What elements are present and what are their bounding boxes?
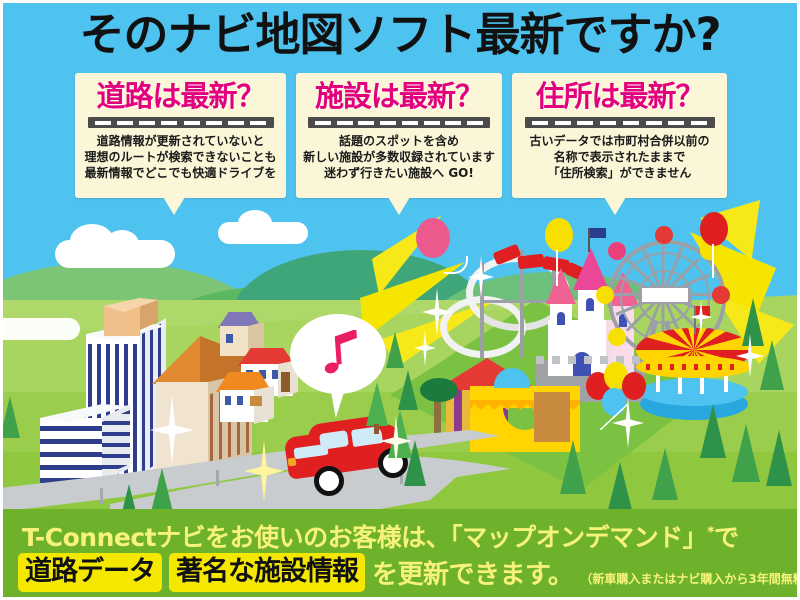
ferris-gondola-8 [608, 242, 626, 260]
balloon-pink-large [416, 218, 450, 258]
road-divider-icon-2 [308, 117, 490, 128]
callout-line-roads-1: 道路情報が更新されていないと [79, 133, 282, 149]
callout-box-roads[interactable]: 道路は最新？ 道路情報が更新されていないと 理想のルートが検索できないことも 最… [75, 73, 286, 198]
bottom-banner: T-Connectナビをお使いのお客様は、「マップオンデマンド」*で 道路データ… [0, 509, 800, 600]
callout-title-address: 住所は最新？ [516, 79, 723, 113]
callout-title-roads: 道路は最新？ [79, 79, 282, 113]
roadway-guardrail-post-1 [100, 488, 103, 504]
poster-root: そのナビ地図ソフト最新ですか? 道路は最新？ 道路情報が更新されていないと 理想… [0, 0, 800, 600]
callout-tail-roads [163, 197, 185, 215]
banner-line-1-text: T-Connectナビをお使いのお客様は、「マップオンデマンド」 [22, 523, 707, 552]
cloud-2-puff [238, 210, 272, 236]
road-divider-icon [88, 117, 274, 128]
banner-line-2: 道路データ 著名な施設情報 を更新できます。 （新車購入またはナビ購入から3年間… [18, 553, 800, 592]
callout-line-roads-3: 最新情報でどこでも快適ドライブを [79, 165, 282, 181]
castle-flag-pole [588, 228, 590, 252]
balloon-cluster-strings [600, 404, 628, 430]
palm-tree-leaves [420, 378, 458, 402]
callout-line-facilities-3: 迷わず行きたい施設へ GO! [300, 165, 498, 181]
banner-asterisk: * [707, 525, 714, 541]
callout-line-facilities-1: 話題のスポットを含め [300, 133, 498, 149]
pavilion-side-block [534, 392, 570, 442]
ferris-wheel-hub [640, 286, 690, 304]
callout-line-address-3: 「住所検索」ができません [516, 165, 723, 181]
road-divider-icon-3 [525, 117, 715, 128]
ferris-gondola-7 [596, 286, 614, 304]
banner-line-1-suffix: で [714, 523, 739, 552]
callout-title-facilities: 施設は最新？ [300, 79, 498, 113]
castle-window-center [586, 298, 594, 311]
coaster-train-car-2 [517, 254, 544, 270]
castle-tower-left [550, 300, 572, 362]
ferris-gondola-3 [712, 286, 730, 304]
house-red-door [281, 372, 290, 392]
chip-road-data: 道路データ [18, 553, 162, 592]
balloon-yellow-string [556, 250, 558, 286]
callout-box-address[interactable]: 住所は最新？ 古いデータでは市町村合併以前の 名称で表示されたままで 「住所検索… [512, 73, 727, 198]
coaster-support-cross [480, 300, 556, 303]
callout-box-facilities[interactable]: 施設は最新？ 話題のスポットを含め 新しい施設が多数収録されています 迷わず行き… [296, 73, 502, 198]
banner-footnote: （新車購入またはナビ購入から3年間無料） [580, 570, 800, 592]
ferris-gondola-6 [608, 328, 626, 346]
callout-line-address-2: 名称で表示されたままで [516, 149, 723, 165]
car-taillight [287, 457, 296, 466]
house-orange-door [250, 396, 262, 406]
castle-battlement [536, 356, 644, 364]
balloon-red-top-right-string [712, 244, 714, 278]
castle-window-left [557, 312, 565, 325]
cloud-3 [0, 318, 80, 340]
callout-line-roads-2: 理想のルートが検索できないことも [79, 149, 282, 165]
car-wheel-rear [314, 466, 344, 496]
cloud-1-puff-b [105, 230, 139, 258]
callout-tail-facilities [388, 197, 410, 215]
chip-facility-info: 著名な施設情報 [169, 553, 365, 592]
music-note-svg [322, 330, 362, 378]
ferris-gondola-1 [655, 226, 673, 244]
carousel-rim-dots [646, 364, 742, 370]
roadway-guardrail-post-3 [216, 470, 219, 486]
tree-1-trunk [374, 424, 379, 434]
page-title: そのナビ地図ソフト最新ですか? [0, 6, 800, 64]
carousel-flag [696, 306, 710, 316]
callout-line-facilities-2: 新しい施設が多数収録されています [300, 149, 498, 165]
house-orange-windows [225, 396, 247, 405]
balloon-yellow [545, 218, 573, 252]
callout-line-address-1: 古いデータでは市町村合併以前の [516, 133, 723, 149]
banner-line-1: T-Connectナビをお使いのお客様は、「マップオンデマンド」*で [22, 518, 738, 554]
balloon-cluster-red-2 [622, 372, 646, 400]
castle-flag [590, 228, 606, 238]
house-purple-window [226, 334, 233, 343]
balloon-red-top-right [700, 212, 728, 246]
music-note-icon [322, 330, 362, 378]
banner-line-2-tail: を更新できます。 [372, 554, 573, 591]
callout-tail-address [604, 197, 626, 215]
